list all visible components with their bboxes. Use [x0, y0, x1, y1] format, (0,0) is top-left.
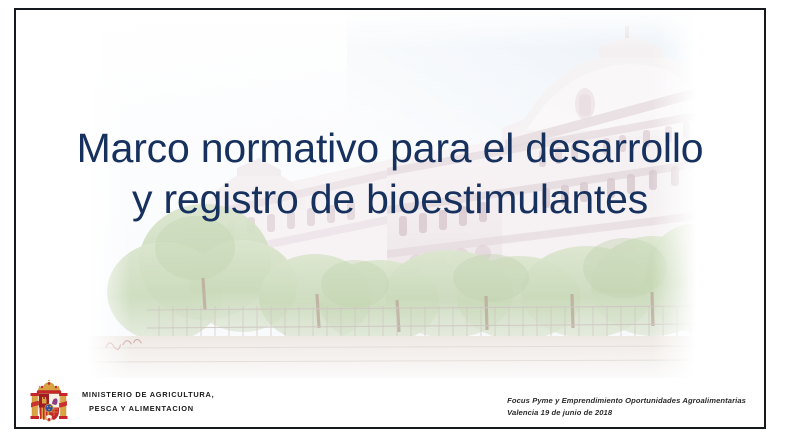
ministry-logo-lockup: MINISTERIO DE AGRICULTURA, PESCA Y ALIME…: [30, 380, 214, 424]
ministry-name: MINISTERIO DE AGRICULTURA, PESCA Y ALIME…: [82, 388, 214, 416]
slide-frame: Marco normativo para el desarrollo y reg…: [14, 8, 766, 429]
watercolor-svg: [87, 10, 696, 378]
ministry-name-line2: PESCA Y ALIMENTACION: [82, 402, 214, 416]
event-footer-line2: Valencia 19 de junio de 2018: [507, 407, 746, 419]
escudo-de-espana-icon: [30, 380, 68, 424]
watercolor-ministry-building-image: [87, 10, 696, 378]
event-footer: Focus Pyme y Emprendimiento Oportunidade…: [507, 395, 746, 418]
event-footer-line1: Focus Pyme y Emprendimiento Oportunidade…: [507, 395, 746, 407]
ministry-name-line1: MINISTERIO DE AGRICULTURA,: [82, 390, 214, 399]
slide-canvas: Marco normativo para el desarrollo y reg…: [0, 0, 800, 442]
